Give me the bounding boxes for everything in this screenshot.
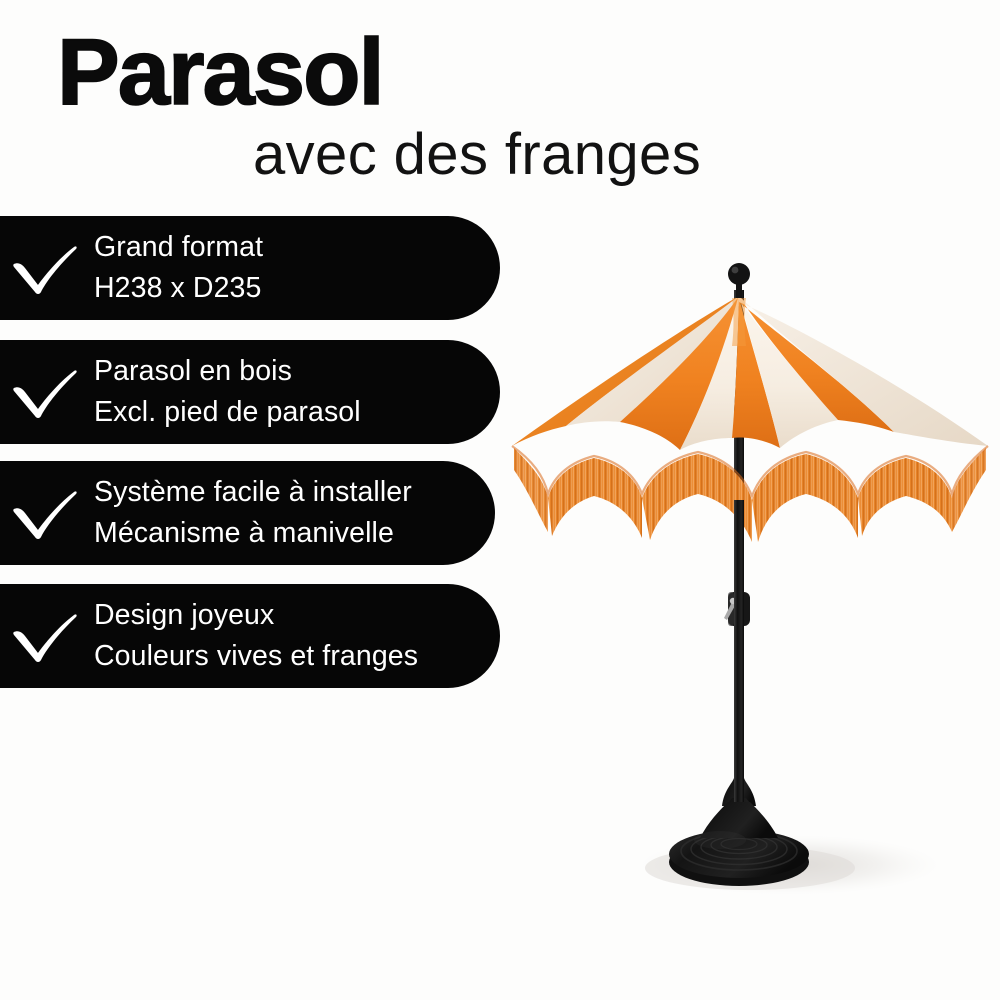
feature-text: Design joyeux Couleurs vives et franges xyxy=(94,595,418,677)
feature-text: Parasol en bois Excl. pied de parasol xyxy=(94,351,361,433)
feature-line-1: Parasol en bois xyxy=(94,351,361,392)
page-title: Parasol xyxy=(57,25,383,119)
feature-line-2: Couleurs vives et franges xyxy=(94,636,418,677)
feature-line-1: Système facile à installer xyxy=(94,472,412,513)
scalloped-striped-canopy xyxy=(512,294,988,542)
check-icon xyxy=(8,240,82,296)
feature-pill-parasol-en-bois: Parasol en bois Excl. pied de parasol xyxy=(0,340,500,444)
product-image xyxy=(470,250,1000,910)
feature-line-1: Design joyeux xyxy=(94,595,418,636)
feature-pill-grand-format: Grand format H238 x D235 xyxy=(0,216,500,320)
feature-text: Grand format H238 x D235 xyxy=(94,227,263,309)
feature-pill-systeme-facile: Système facile à installer Mécanisme à m… xyxy=(0,461,495,565)
feature-line-2: Mécanisme à manivelle xyxy=(94,513,412,554)
check-icon xyxy=(8,485,82,541)
feature-line-2: H238 x D235 xyxy=(94,268,263,309)
page-subtitle: avec des franges xyxy=(253,126,701,184)
feature-line-1: Grand format xyxy=(94,227,263,268)
check-icon xyxy=(8,608,82,664)
feature-text: Système facile à installer Mécanisme à m… xyxy=(94,472,412,554)
tassel-fringe-trim xyxy=(512,436,988,542)
check-icon xyxy=(8,364,82,420)
parasol-illustration xyxy=(470,250,1000,910)
feature-line-2: Excl. pied de parasol xyxy=(94,392,361,433)
pole-lower xyxy=(734,500,744,820)
feature-pill-design-joyeux: Design joyeux Couleurs vives et franges xyxy=(0,584,500,688)
round-ribbed-base xyxy=(669,802,809,886)
black-ball-finial xyxy=(728,263,750,298)
product-banner: Parasol avec des franges Grand format H2… xyxy=(0,0,1000,1000)
